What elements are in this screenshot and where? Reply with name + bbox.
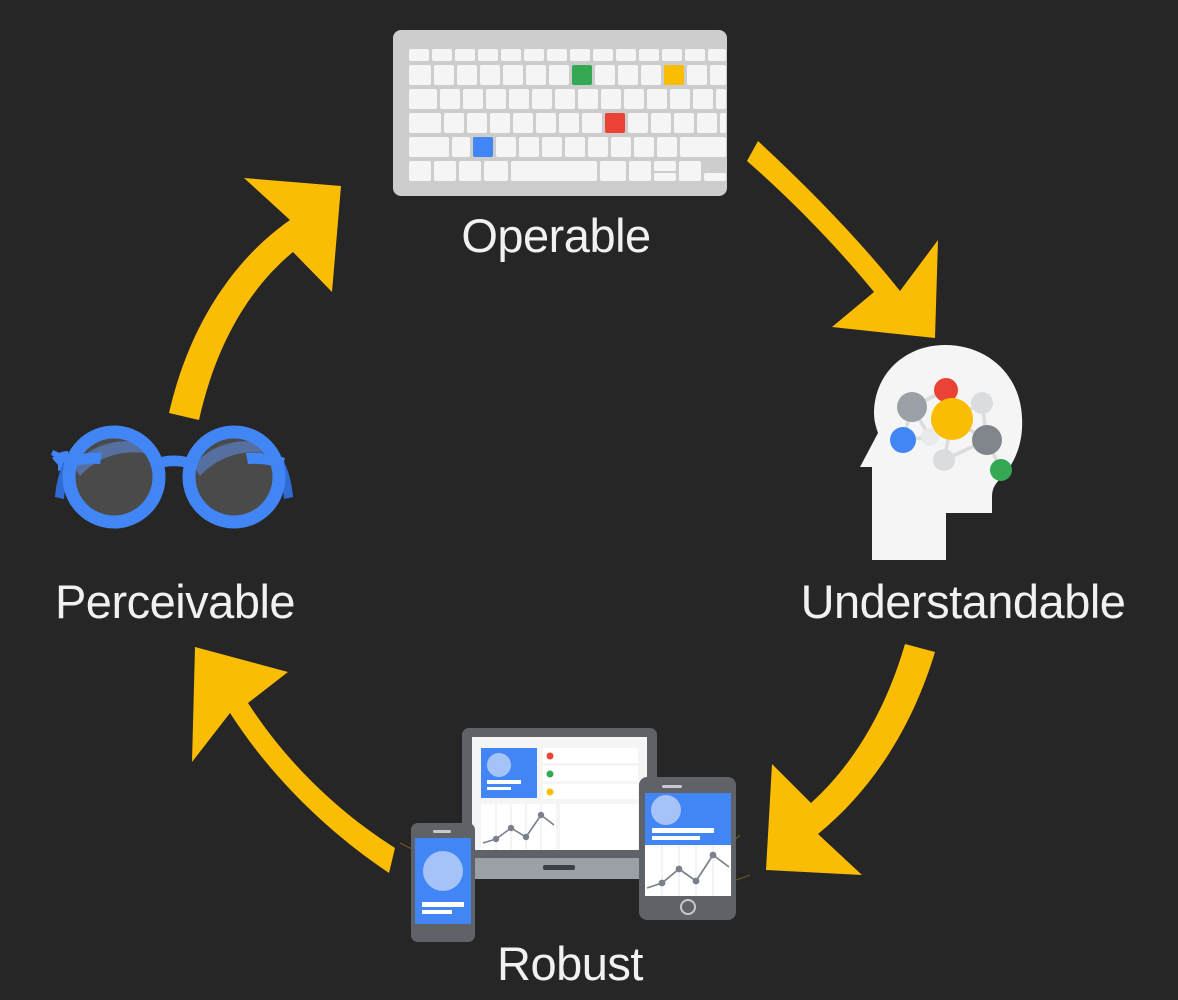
understandable-label: Understandable (801, 578, 1126, 625)
green-key (572, 65, 592, 85)
gray-node-large (897, 392, 927, 422)
arrow-bottom-left (192, 647, 395, 873)
phone-device (411, 823, 475, 942)
pale-node-upper-right (971, 392, 993, 414)
yellow-node-center (931, 398, 973, 440)
robust-label: Robust (497, 940, 643, 987)
keyboard-icon (393, 30, 727, 196)
multi-device-icon (400, 715, 760, 945)
understandable-icon-group (860, 345, 1035, 560)
arrow-top-right (747, 141, 938, 338)
green-dot (547, 771, 554, 778)
arrow-bottom-right (766, 644, 935, 875)
gray-node-right (972, 425, 1002, 455)
robust-icon-group (400, 715, 760, 945)
yellow-dot (547, 789, 554, 796)
operable-icon-group (393, 30, 727, 196)
blue-node (890, 427, 916, 453)
diagram-canvas: Operable (0, 0, 1178, 1000)
perceivable-icon-group (50, 424, 298, 534)
tablet-device (639, 777, 736, 920)
red-dot (547, 753, 554, 760)
pale-node-lower (933, 449, 955, 471)
head-network-icon (860, 345, 1035, 560)
green-node (990, 459, 1012, 481)
operable-label: Operable (461, 212, 650, 259)
yellow-key (664, 65, 684, 85)
perceivable-label: Perceivable (55, 578, 295, 625)
glasses-icon (50, 424, 298, 534)
laptop-device (462, 728, 657, 879)
red-key (605, 113, 625, 133)
blue-key (473, 137, 493, 157)
arrow-top-left (169, 178, 341, 420)
